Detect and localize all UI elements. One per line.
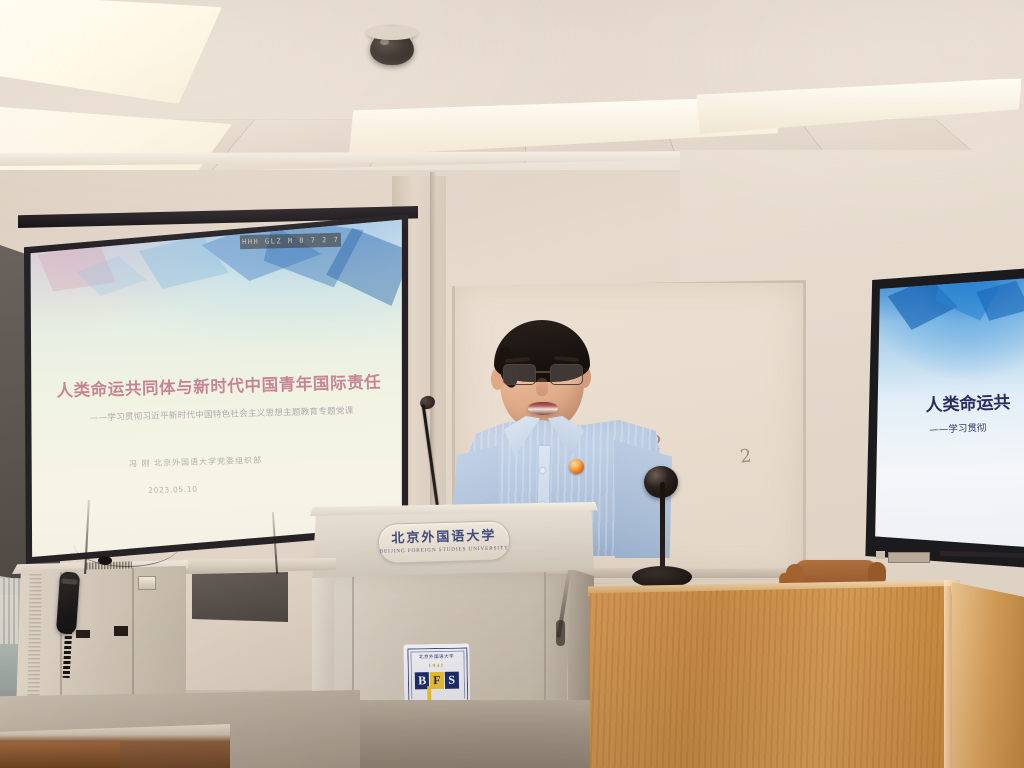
handheld-microphone-stem [660,482,665,574]
nose [536,378,548,396]
recessed-ceiling-light [0,0,222,104]
mouth [528,402,558,415]
plaque-english-text: BEIJING FOREIGN STUDIES UNIVERSITY [380,545,509,555]
shirt-button [540,468,545,473]
microphone-base [632,566,692,588]
slide-date: 2023.05.10 [60,482,286,497]
wood-ledge-lower [0,742,120,768]
podium-cable-knot [556,620,565,646]
slide-subtitle: ——学习贯彻习近平新时代中国特色社会主义思想主题教育专题党课 [54,404,390,425]
glasses-bridge [534,371,550,373]
lens-right [550,364,583,385]
dome-security-camera-icon [370,27,414,65]
monitor-port [876,551,885,559]
cabinet-handle[interactable] [138,576,156,590]
hanging-wire [74,522,180,567]
monitor-label-plate [888,552,930,563]
monitor-text-layer: 人类命运共 ——学习贯彻 [867,275,1024,552]
monitor-slide-subtitle: ——学习贯彻 [929,420,986,436]
party-emblem-pin-icon [569,459,584,474]
whiteboard-mark: 2 [739,445,753,467]
lens-left [503,364,536,385]
wire-clip [98,556,112,565]
cabinet-slot [114,626,128,636]
crest-chinese-arc: 北京外国语大学 [403,653,469,660]
podium-name-plaque: 北京外国语大学 BEIJING FOREIGN STUDIES UNIVERSI… [377,520,510,564]
monitor-slide-title: 人类命运共 [925,387,1011,415]
cabinet-slot [76,630,90,638]
slide-title: 人类命运共同体与新时代中国青年国际责任 [51,369,387,402]
plaque-chinese-text: 北京外国语大学 [391,530,496,546]
lecture-hall-photo: 2 2 HHH GLZ M 8 7 2 7 人类命运共同体与新时代中国青年国际责… [0,0,1024,768]
wooden-counter-desk [590,586,970,768]
camera-glint [380,39,389,45]
desk-right-panel [952,582,1024,768]
right-display-screen: 人类命运共 ——学习贯彻 [872,278,1024,550]
dark-equipment-box [192,572,288,622]
slide-author: 冯 刚 北京外国语大学党委组织部 [59,452,332,470]
